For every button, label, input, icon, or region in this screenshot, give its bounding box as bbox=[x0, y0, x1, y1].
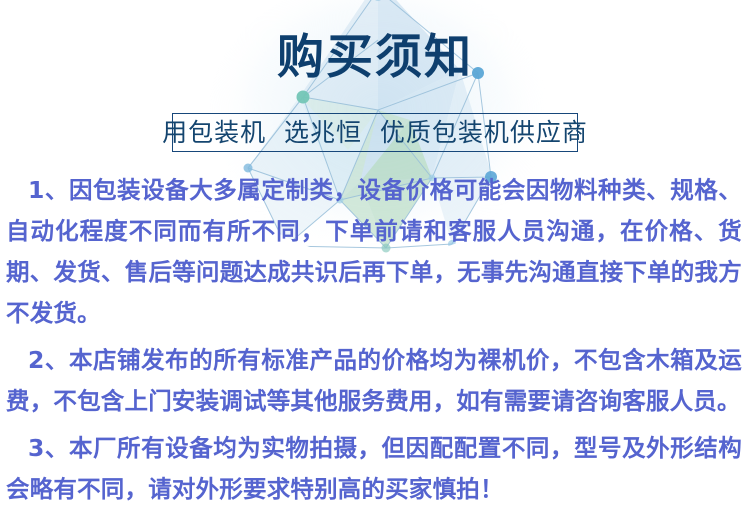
page-title: 购买须知 bbox=[0, 0, 750, 85]
notice-item-3: 3、本厂所有设备均为实物拍摄，但因配配置不同，型号及外形结构会略有不同，请对外形… bbox=[0, 428, 750, 510]
notice-page: 购买须知 用包装机 选兆恒 优质包装机供应商 1、因包装设备大多属定制类，设备价… bbox=[0, 0, 750, 516]
page-header: 购买须知 bbox=[0, 0, 750, 85]
notice-item-2: 2、本店铺发布的所有标准产品的价格均为裸机价，不包含木箱及运费，不包含上门安装调… bbox=[0, 340, 750, 422]
notice-item-1: 1、因包装设备大多属定制类，设备价格可能会因物料种类、规格、自动化程度不同而有所… bbox=[0, 170, 750, 334]
network-node-green bbox=[297, 91, 310, 104]
subtitle-banner: 用包装机 选兆恒 优质包装机供应商 bbox=[172, 113, 578, 152]
subtitle-text: 用包装机 选兆恒 优质包装机供应商 bbox=[162, 120, 588, 145]
notice-list: 1、因包装设备大多属定制类，设备价格可能会因物料种类、规格、自动化程度不同而有所… bbox=[0, 170, 750, 510]
